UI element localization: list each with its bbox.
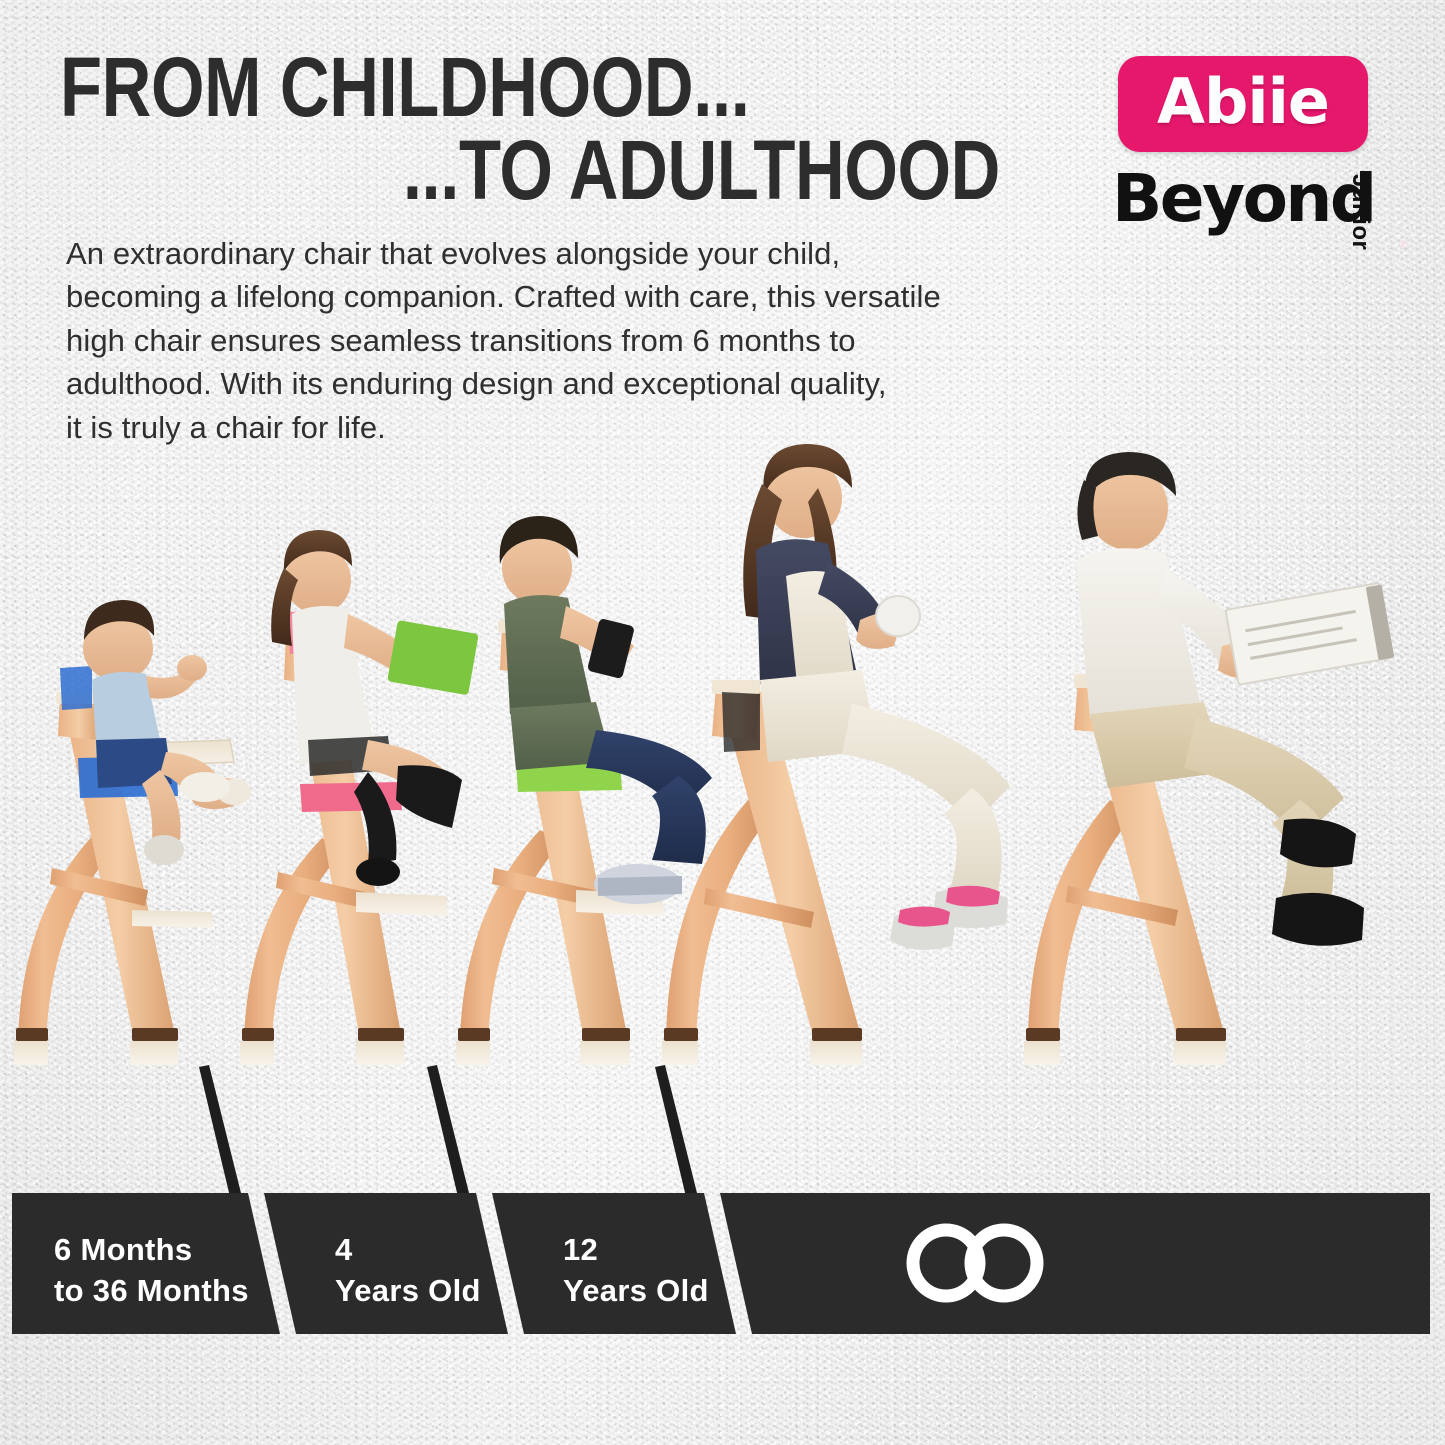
page-title: FROM CHILDHOOD... ...TO ADULTHOOD	[60, 48, 1000, 210]
timeline-connector-lines	[0, 1055, 1445, 1205]
connector-line-2	[427, 1065, 471, 1201]
headline-line-2: ...TO ADULTHOOD	[229, 131, 1000, 210]
description-paragraph: An extraordinary chair that evolves alon…	[66, 232, 1046, 449]
brand-logo: Abiie ® Beyond Junior	[1118, 56, 1418, 261]
age-cell-child[interactable]	[492, 1193, 736, 1334]
description-line-1: An extraordinary chair that evolves alon…	[66, 232, 1046, 275]
description-line-2: becoming a lifelong companion. Crafted w…	[66, 275, 1046, 318]
age-cell-infant[interactable]	[12, 1193, 280, 1334]
person-adult-man	[1076, 452, 1394, 946]
description-line-4: adulthood. With its enduring design and …	[66, 362, 1046, 405]
chair-stage-adult-man	[1024, 452, 1394, 1065]
chair-stage-toddler	[240, 530, 479, 1065]
connector-line-1	[199, 1065, 243, 1201]
age-cell-adult[interactable]	[720, 1193, 1430, 1334]
chair-stage-infant	[14, 600, 251, 1065]
logo-product-text: Beyond	[1112, 160, 1375, 237]
description-line-3: high chair ensures seamless transitions …	[66, 319, 1046, 362]
description-line-5: it is truly a chair for life.	[66, 406, 1046, 449]
chair-stage-adult-woman	[662, 444, 1010, 1065]
logo-brand-text: Abiie	[1118, 56, 1368, 152]
registered-trademark-icon: ®	[1398, 238, 1409, 251]
headline-line-1: FROM CHILDHOOD...	[60, 48, 831, 127]
logo-tier-text: Junior	[1346, 174, 1374, 250]
connector-line-3	[655, 1065, 699, 1201]
person-toddler	[271, 530, 479, 886]
age-cell-toddler[interactable]	[264, 1193, 508, 1334]
poster-canvas: FROM CHILDHOOD... ...TO ADULTHOOD An ext…	[0, 0, 1445, 1445]
age-range-bar	[12, 1193, 1430, 1334]
product-lifecycle-illustration	[0, 440, 1445, 1080]
